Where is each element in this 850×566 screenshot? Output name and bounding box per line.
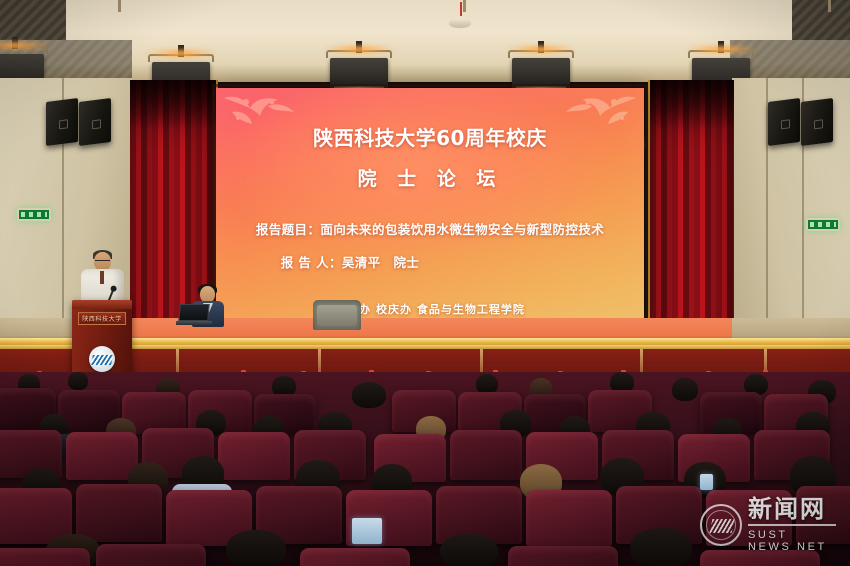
podium-plaque: 陕西科技大学 xyxy=(78,312,126,325)
empty-stage-chair xyxy=(313,300,361,330)
audience-member xyxy=(630,528,692,566)
audience-phone-screen xyxy=(700,474,713,490)
theater-seat xyxy=(526,490,612,546)
projection-screen-frame xyxy=(212,84,648,324)
smoke-detector-icon xyxy=(449,18,471,28)
ceiling-coffer xyxy=(0,0,66,40)
audience-member xyxy=(68,372,88,390)
ceiling-hanger xyxy=(828,0,831,12)
stage-curtain-right xyxy=(650,80,734,342)
theater-seat xyxy=(96,544,206,566)
sust-news-watermark: 新闻网 SUST NEWS NET xyxy=(700,494,836,556)
wall-loudspeaker-icon xyxy=(768,100,833,144)
audience-phone-screen xyxy=(352,518,382,544)
theater-seat xyxy=(300,548,410,566)
theater-seat xyxy=(76,484,162,542)
sust-news-logo-icon xyxy=(700,504,742,546)
ceiling-hanger xyxy=(463,0,466,12)
audience-member xyxy=(672,378,698,401)
smoke-detector-stem xyxy=(460,2,462,16)
ceiling-coffer xyxy=(792,0,850,40)
watermark-chinese-text: 新闻网 xyxy=(748,497,836,521)
watermark-english-text: SUST NEWS NET xyxy=(748,529,836,553)
watermark-divider xyxy=(748,524,836,526)
auditorium-photo: 陕西科技大学60周年校庆 院 士 论 坛 报告题目：面向未来的包装饮用水微生物安… xyxy=(0,0,850,566)
audience-member xyxy=(226,530,286,566)
theater-seat xyxy=(218,432,290,480)
exit-sign-icon xyxy=(17,208,51,221)
theater-seat xyxy=(66,432,138,480)
ceiling-hanger xyxy=(118,0,121,12)
theater-seat xyxy=(508,546,618,566)
theater-seat xyxy=(450,430,522,480)
university-emblem-icon xyxy=(89,346,115,372)
audience-member xyxy=(440,534,498,566)
wall-loudspeaker-icon xyxy=(46,100,111,144)
exit-sign-icon xyxy=(806,218,840,231)
laptop-icon xyxy=(176,304,210,326)
theater-seat xyxy=(0,548,90,566)
audience-member xyxy=(352,382,386,408)
audience-member xyxy=(476,374,498,394)
